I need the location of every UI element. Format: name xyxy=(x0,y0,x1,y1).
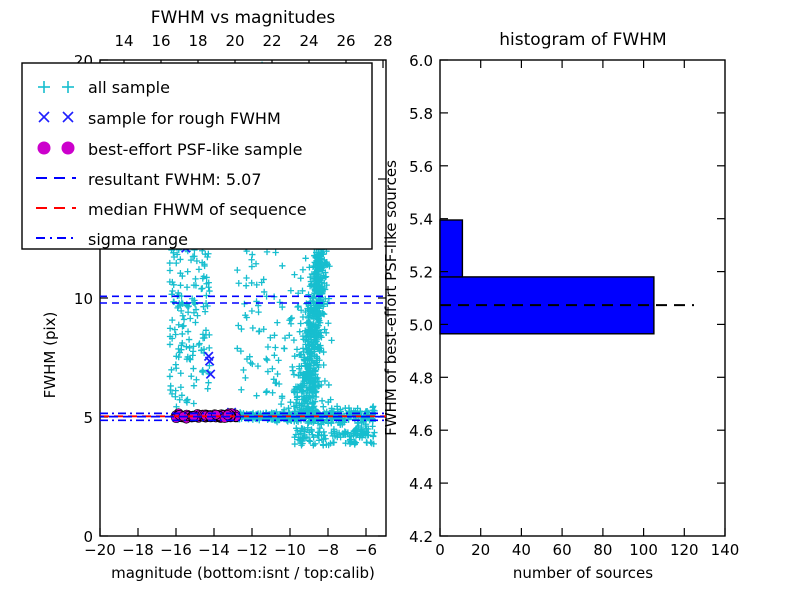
all-sample-plus-marker xyxy=(342,405,348,411)
all-sample-plus-marker xyxy=(167,267,173,273)
all-sample-plus-marker xyxy=(185,328,191,334)
bottom-tick-label: −12 xyxy=(236,541,268,559)
all-sample-plus-marker xyxy=(186,345,192,351)
all-sample-plus-marker xyxy=(255,309,261,315)
all-sample-plus-marker xyxy=(177,282,183,288)
all-sample-plus-marker xyxy=(187,315,193,321)
all-sample-plus-marker xyxy=(170,299,176,305)
psf-like-circle-marker xyxy=(223,410,232,419)
all-sample-plus-marker xyxy=(289,364,295,370)
legend-label: resultant FWHM: 5.07 xyxy=(88,170,262,189)
legend-label: all sample xyxy=(88,78,170,97)
all-sample-plus-marker xyxy=(297,320,303,326)
all-sample-plus-marker xyxy=(328,337,334,343)
all-sample-plus-marker xyxy=(363,439,369,445)
all-sample-plus-marker xyxy=(234,267,240,273)
top-tick-label: 22 xyxy=(262,32,281,50)
right-bottom-ticklabels: 0 20 40 60 80 100 120 140 xyxy=(435,541,739,559)
all-sample-plus-marker xyxy=(297,328,303,334)
all-sample-plus-marker xyxy=(292,353,298,359)
all-sample-plus-marker xyxy=(190,348,196,354)
right-top-ticks xyxy=(481,60,685,68)
all-sample-plus-marker xyxy=(287,399,293,405)
left-panel-title: FWHM vs magnitudes xyxy=(151,8,336,28)
all-sample-plus-marker xyxy=(205,379,211,385)
right-y-tick-label: 5.2 xyxy=(409,264,433,282)
all-sample-plus-marker xyxy=(178,384,184,390)
all-sample-plus-marker xyxy=(243,275,249,281)
all-sample-plus-marker xyxy=(173,361,179,367)
all-sample-plus-marker xyxy=(238,326,244,332)
right-y-tick-label: 6.0 xyxy=(409,52,433,70)
top-tick-label: 20 xyxy=(225,32,244,50)
all-sample-plus-marker xyxy=(325,320,331,326)
all-sample-plus-marker xyxy=(292,441,298,447)
all-sample-plus-marker xyxy=(177,256,183,262)
panel-histogram-of-fwhm: histogram of FWHM xyxy=(382,30,739,582)
top-axis-ticklabels: 14 16 18 20 22 24 26 28 xyxy=(114,32,392,50)
all-sample-plus-marker xyxy=(169,317,175,323)
all-sample-plus-marker xyxy=(263,356,269,362)
all-sample-plus-marker xyxy=(243,282,249,288)
all-sample-plus-marker xyxy=(167,260,173,266)
legend-label: median FHWM of sequence xyxy=(88,200,307,219)
histogram-bar[interactable] xyxy=(440,220,462,277)
all-sample-plus-marker xyxy=(242,375,248,381)
all-sample-plus-marker xyxy=(186,336,192,342)
right-tick-label: 60 xyxy=(553,541,572,559)
left-tick-label: 10 xyxy=(74,290,93,308)
all-sample-plus-marker xyxy=(306,264,312,270)
all-sample-plus-marker xyxy=(264,357,270,363)
right-y-tick-label: 5.6 xyxy=(409,158,433,176)
all-sample-plus-marker xyxy=(248,257,254,263)
bottom-axis-ticks xyxy=(100,528,366,536)
top-tick-label: 26 xyxy=(336,32,355,50)
right-tick-label: 140 xyxy=(711,541,740,559)
all-sample-plus-marker xyxy=(190,365,196,371)
all-sample-plus-marker xyxy=(320,404,326,410)
all-sample-plus-marker xyxy=(298,275,304,281)
all-sample-plus-marker xyxy=(279,263,285,269)
all-sample-plus-marker xyxy=(172,326,178,332)
all-sample-plus-marker xyxy=(185,309,191,315)
bottom-tick-label: −10 xyxy=(274,541,306,559)
all-sample-plus-marker xyxy=(188,373,194,379)
all-sample-plus-marker xyxy=(263,389,269,395)
all-sample-plus-marker xyxy=(179,331,185,337)
all-sample-plus-marker xyxy=(274,319,280,325)
legend: all sample sample for rough FWHM best-ef… xyxy=(22,63,372,249)
all-sample-plus-marker xyxy=(173,260,179,266)
top-tick-label: 14 xyxy=(114,32,133,50)
all-sample-plus-marker xyxy=(291,371,297,377)
all-sample-plus-marker xyxy=(265,344,271,350)
all-sample-plus-marker xyxy=(288,287,294,293)
all-sample-plus-marker xyxy=(236,280,242,286)
all-sample-plus-marker xyxy=(184,284,190,290)
right-tick-label: 0 xyxy=(435,541,445,559)
left-panel-xlabel: magnitude (bottom:isnt / top:calib) xyxy=(111,564,375,582)
all-sample-plus-marker xyxy=(294,304,300,310)
all-sample-plus-marker xyxy=(196,266,202,272)
bottom-tick-label: −6 xyxy=(355,541,377,559)
all-sample-plus-marker xyxy=(278,401,284,407)
right-y-tick-label: 5.0 xyxy=(409,316,433,334)
all-sample-plus-marker xyxy=(249,308,255,314)
figure-canvas: FWHM vs magnitudes 14 16 18 20 22 24 26 … xyxy=(0,0,800,600)
all-sample-plus-marker xyxy=(192,319,198,325)
all-sample-plus-marker xyxy=(291,271,297,277)
panel-fwhm-vs-magnitudes: FWHM vs magnitudes 14 16 18 20 22 24 26 … xyxy=(22,8,393,582)
all-sample-plus-marker xyxy=(169,288,175,294)
right-y-tick-label: 5.8 xyxy=(409,105,433,123)
all-sample-plus-marker xyxy=(281,345,287,351)
right-tick-label: 40 xyxy=(512,541,531,559)
right-panel-ylabel: FWHM of best-effort PSF-like sources xyxy=(382,160,400,436)
all-sample-plus-marker xyxy=(272,380,278,386)
all-sample-plus-marker xyxy=(320,442,326,448)
all-sample-plus-marker xyxy=(238,387,244,393)
right-y-tick-label: 4.2 xyxy=(409,528,433,546)
right-y-tick-label: 4.8 xyxy=(409,369,433,387)
right-panel-xlabel: number of sources xyxy=(513,564,653,582)
left-tick-label: 5 xyxy=(83,409,93,427)
all-sample-plus-marker xyxy=(253,392,259,398)
all-sample-plus-marker xyxy=(181,316,187,322)
all-sample-plus-marker xyxy=(167,373,173,379)
right-panel-title: histogram of FWHM xyxy=(499,30,666,50)
histogram-bars xyxy=(440,220,654,334)
matplotlib-figure: FWHM vs magnitudes 14 16 18 20 22 24 26 … xyxy=(0,0,800,600)
all-sample-plus-marker xyxy=(198,286,204,292)
all-sample-plus-marker xyxy=(172,331,178,337)
all-sample-plus-marker xyxy=(191,400,197,406)
right-y-tick-label: 4.6 xyxy=(409,422,433,440)
all-sample-plus-marker xyxy=(264,388,270,394)
top-tick-label: 18 xyxy=(188,32,207,50)
all-sample-plus-marker xyxy=(272,344,278,350)
all-sample-plus-marker xyxy=(240,367,246,373)
all-sample-plus-marker xyxy=(302,255,308,261)
all-sample-plus-marker xyxy=(205,385,211,391)
all-sample-plus-marker xyxy=(206,288,212,294)
right-y-tick-label: 5.4 xyxy=(409,211,433,229)
all-sample-plus-marker xyxy=(250,325,256,331)
right-tick-label: 20 xyxy=(471,541,490,559)
all-sample-plus-marker xyxy=(184,268,190,274)
right-right-ticks xyxy=(717,113,725,483)
all-sample-plus-marker xyxy=(272,249,278,255)
left-panel-ylabel: FWHM (pix) xyxy=(41,312,59,399)
all-sample-plus-marker xyxy=(183,344,189,350)
all-sample-plus-marker xyxy=(184,396,190,402)
bottom-tick-label: −14 xyxy=(198,541,230,559)
right-y-tick-label: 4.4 xyxy=(409,475,433,493)
legend-label: best-effort PSF-like sample xyxy=(88,140,302,159)
all-sample-plus-marker xyxy=(274,371,280,377)
all-sample-plus-marker xyxy=(255,363,261,369)
all-sample-plus-marker xyxy=(249,251,255,257)
all-sample-plus-marker xyxy=(326,382,332,388)
all-sample-plus-marker xyxy=(321,326,327,332)
all-sample-plus-marker xyxy=(269,390,275,396)
all-sample-plus-marker xyxy=(275,357,281,363)
bottom-tick-label: −8 xyxy=(317,541,339,559)
all-sample-plus-marker xyxy=(201,335,207,341)
legend-label: sigma range xyxy=(88,230,188,249)
right-left-ticklabels: 4.2 4.4 4.6 4.8 5.0 5.2 5.4 5.6 5.8 6.0 xyxy=(409,52,433,546)
bottom-tick-label: −18 xyxy=(122,541,154,559)
all-sample-plus-marker xyxy=(235,322,241,328)
legend-label: sample for rough FWHM xyxy=(88,109,281,128)
all-sample-plus-marker xyxy=(192,276,198,282)
top-tick-label: 24 xyxy=(299,32,318,50)
all-sample-plus-marker xyxy=(178,370,184,376)
all-sample-plus-marker xyxy=(167,341,173,347)
all-sample-plus-marker xyxy=(291,337,297,343)
all-sample-plus-marker xyxy=(300,267,306,273)
right-tick-label: 120 xyxy=(670,541,699,559)
right-tick-label: 100 xyxy=(629,541,658,559)
bottom-axis-ticklabels: −20 −18 −16 −14 −12 −10 −8 −6 xyxy=(84,541,377,559)
psf-like-circle-marker xyxy=(211,410,220,419)
right-bottom-ticks xyxy=(440,528,725,536)
all-sample-plus-marker xyxy=(206,345,212,351)
all-sample-plus-marker xyxy=(323,330,329,336)
all-sample-plus-marker xyxy=(322,378,328,384)
top-tick-label: 16 xyxy=(151,32,170,50)
all-sample-plus-marker xyxy=(370,433,376,439)
all-sample-plus-marker xyxy=(319,398,325,404)
top-tick-label: 28 xyxy=(373,32,392,50)
all-sample-plus-marker xyxy=(167,325,173,331)
all-sample-plus-marker xyxy=(200,331,206,337)
bottom-tick-label: −16 xyxy=(160,541,192,559)
all-sample-plus-marker xyxy=(191,382,197,388)
all-sample-plus-marker xyxy=(172,387,178,393)
right-tick-label: 80 xyxy=(593,541,612,559)
all-sample-plus-marker xyxy=(271,352,277,358)
all-sample-plus-marker xyxy=(193,377,199,383)
all-sample-plus-marker xyxy=(288,321,294,327)
left-tick-label: 0 xyxy=(83,528,93,546)
all-sample-plus-marker xyxy=(241,301,247,307)
all-sample-plus-marker xyxy=(168,367,174,373)
all-sample-plus-marker xyxy=(371,429,377,435)
